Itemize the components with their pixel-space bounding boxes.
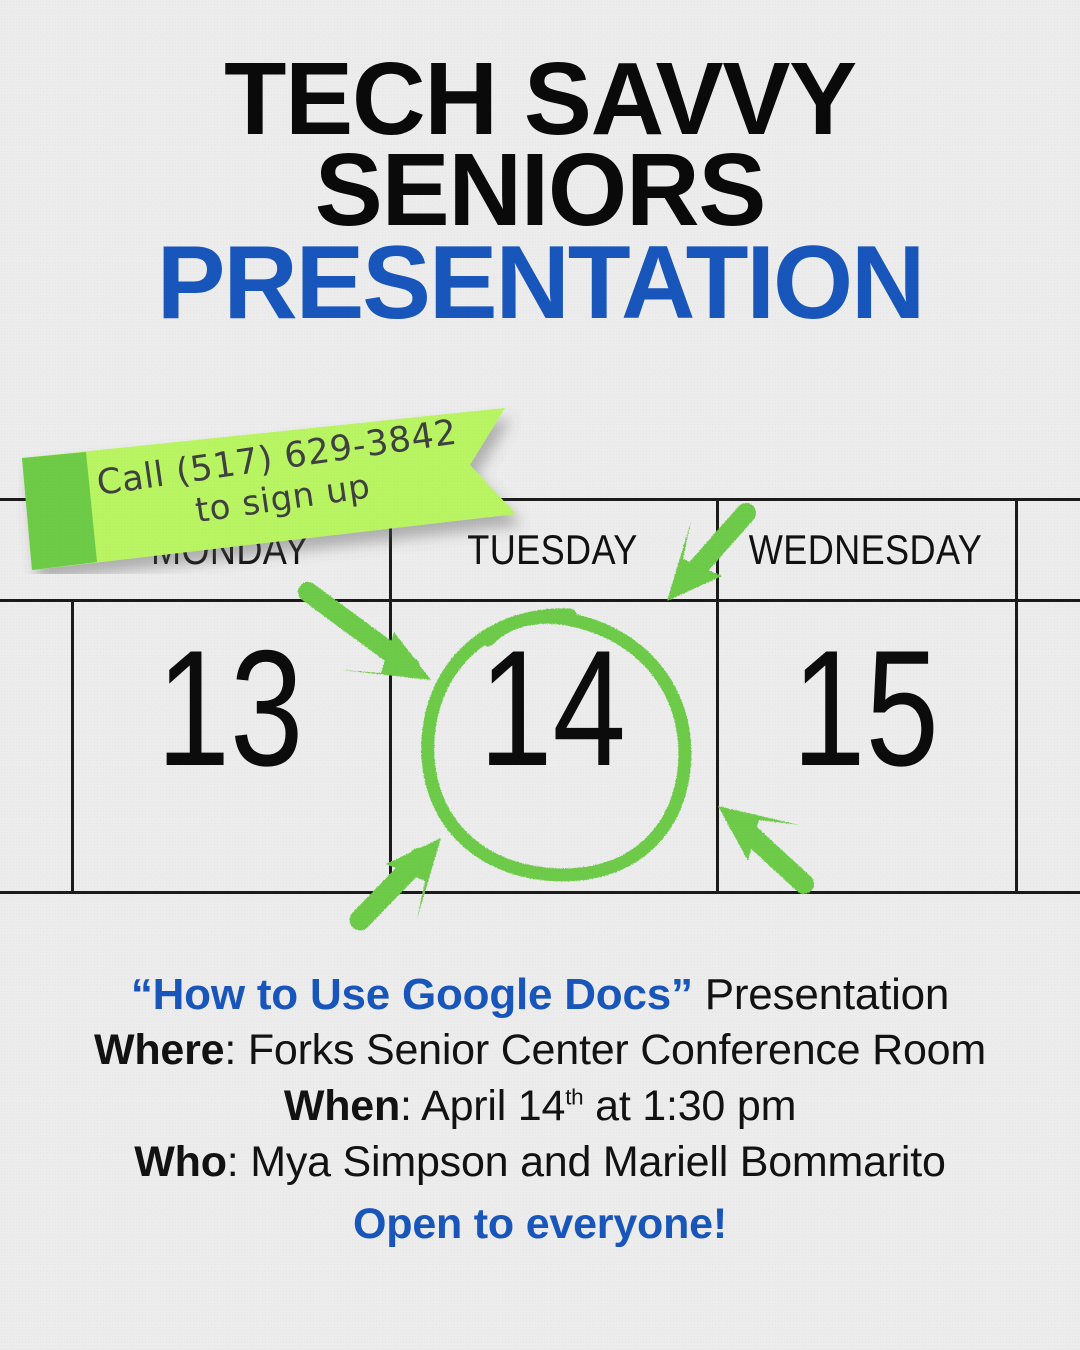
- calendar-day-number-13: 13: [103, 626, 357, 791]
- detail-line-when: When: April 14th at 1:30 pm: [0, 1079, 1080, 1135]
- presentation-title-suffix: Presentation: [693, 970, 949, 1019]
- when-value-post: at 1:30 pm: [583, 1082, 796, 1130]
- event-details: “How to Use Google Docs” Presentation Wh…: [0, 966, 1080, 1253]
- when-label: When: [284, 1082, 400, 1130]
- closing-statement: Open to everyone!: [0, 1197, 1080, 1253]
- calendar-day-number-14: 14: [422, 626, 684, 791]
- calendar-column-divider-3: [1015, 498, 1018, 891]
- detail-line-title: “How to Use Google Docs” Presentation: [0, 966, 1080, 1023]
- calendar-column-divider-2: [716, 498, 719, 891]
- when-value-pre: : April 14: [400, 1082, 565, 1130]
- page-title: TECH SAVVY SENIORS PRESENTATION: [0, 52, 1080, 331]
- detail-line-where: Where: Forks Senior Center Conference Ro…: [0, 1023, 1080, 1079]
- presentation-title: “How to Use Google Docs”: [131, 970, 693, 1019]
- when-ordinal-suffix: th: [565, 1085, 583, 1110]
- where-label: Where: [94, 1026, 224, 1074]
- who-value: : Mya Simpson and Mariell Bommarito: [227, 1138, 946, 1186]
- headline-line-3: PRESENTATION: [5, 236, 1074, 332]
- where-value: : Forks Senior Center Conference Room: [224, 1026, 986, 1074]
- headline-line-2: SENIORS: [5, 143, 1074, 238]
- calendar-rule-bottom: [0, 891, 1080, 894]
- calendar-day-name-wednesday: WEDNESDAY: [737, 526, 994, 574]
- calendar-day-number-15: 15: [746, 626, 985, 791]
- detail-line-who: Who: Mya Simpson and Mariell Bommarito: [0, 1135, 1080, 1191]
- poster-canvas: TECH SAVVY SENIORS PRESENTATION MONDAY T…: [0, 0, 1080, 1350]
- who-label: Who: [134, 1138, 226, 1186]
- calendar-column-divider-0: [71, 599, 74, 891]
- calendar-rule-header: [0, 599, 1080, 602]
- signup-banner: Call (517) 629-3842 to sign up: [18, 404, 530, 574]
